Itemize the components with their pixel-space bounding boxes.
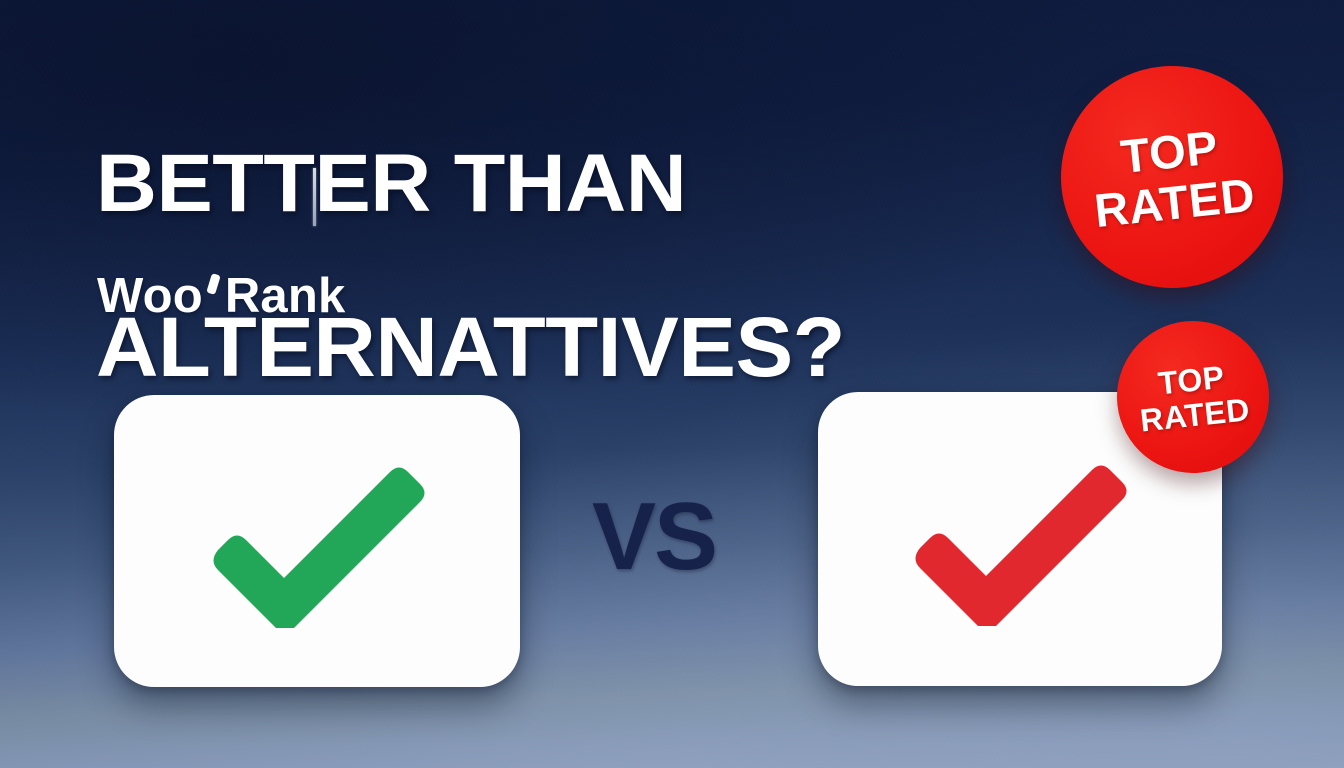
comparison-graphic-canvas: BETTER THAN ALTERNATTIVES? Woo Rank VS T… [0,0,1344,768]
comparison-card-left[interactable] [114,395,520,687]
brand-wordmark: Woo Rank [97,268,345,324]
green-checkmark-icon [204,458,436,628]
brand-part-one: Woo [97,268,203,324]
brand-part-two: Rank [225,268,346,324]
headline-line-1: BETTER THAN [96,143,1054,224]
top-rated-badge-primary-line-2: RATED [1092,171,1257,235]
top-rated-badge-secondary-line-1: TOP [1156,360,1225,399]
versus-label: VS [592,489,716,585]
red-checkmark-icon [906,456,1138,626]
top-rated-badge-secondary-line-2: RATED [1139,393,1252,436]
headline-render-artifact [313,168,316,226]
brand-accent-mark [206,273,220,295]
